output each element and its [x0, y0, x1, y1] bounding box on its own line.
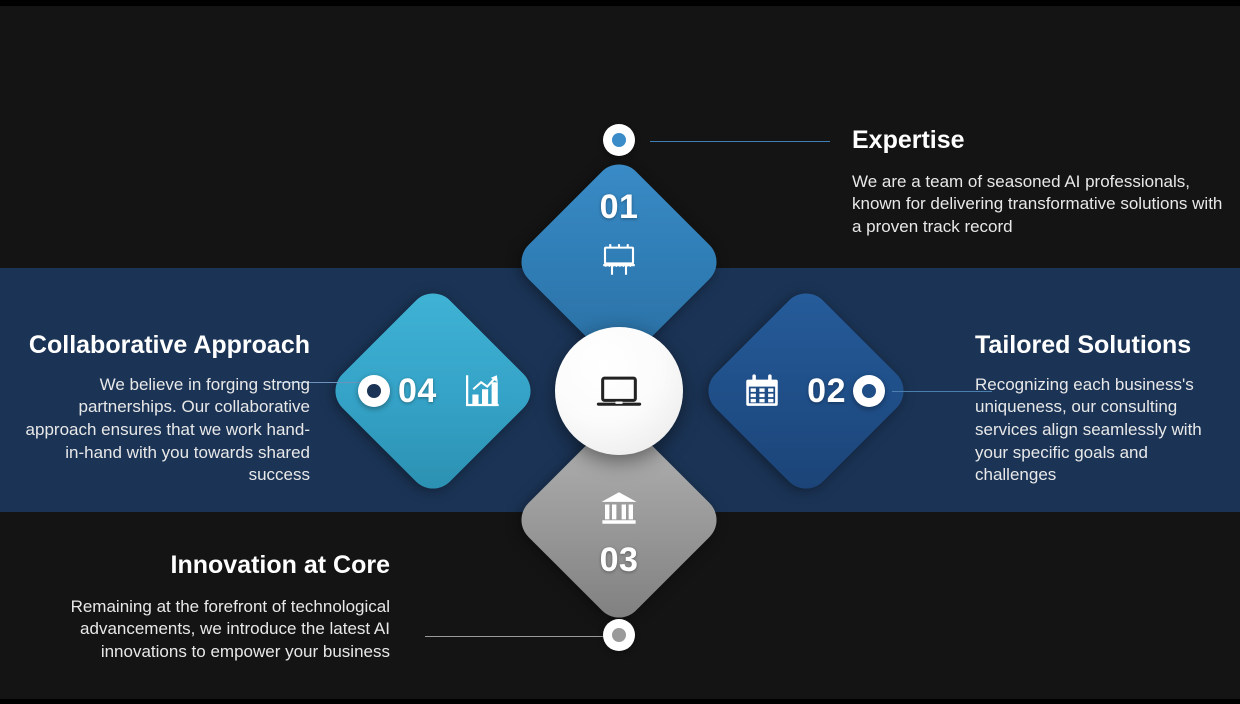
- expertise-body: We are a team of seasoned AI professiona…: [852, 171, 1230, 239]
- text-block-innovation-at-core: Innovation at Core Remaining at the fore…: [24, 551, 390, 664]
- letterbox-top: [0, 0, 1240, 6]
- innovation-at-core-title: Innovation at Core: [24, 551, 390, 580]
- connector-dot-04[interactable]: [358, 375, 390, 407]
- text-block-tailored-solutions: Tailored Solutions Recognizing each busi…: [975, 331, 1225, 487]
- center-hub[interactable]: [555, 327, 683, 455]
- letterbox-bottom: [0, 699, 1240, 704]
- connector-dot-02[interactable]: [853, 375, 885, 407]
- tailored-solutions-body: Recognizing each business's uniqueness, …: [975, 374, 1225, 487]
- connector-dot-01[interactable]: [603, 124, 635, 156]
- text-block-expertise: Expertise We are a team of seasoned AI p…: [852, 126, 1230, 239]
- laptop-icon: [591, 363, 647, 419]
- connector-dot-03[interactable]: [603, 619, 635, 651]
- tailored-solutions-title: Tailored Solutions: [975, 331, 1225, 360]
- collaborative-approach-body: We believe in forging strong partnership…: [14, 374, 310, 487]
- collaborative-approach-title: Collaborative Approach: [14, 331, 310, 360]
- connector-line-03: [425, 636, 605, 637]
- expertise-title: Expertise: [852, 126, 1230, 155]
- text-block-collaborative-approach: Collaborative Approach We believe in for…: [14, 331, 310, 487]
- connector-line-01: [650, 141, 830, 142]
- innovation-at-core-body: Remaining at the forefront of technologi…: [24, 596, 390, 664]
- infographic-slide: 01: [0, 0, 1240, 704]
